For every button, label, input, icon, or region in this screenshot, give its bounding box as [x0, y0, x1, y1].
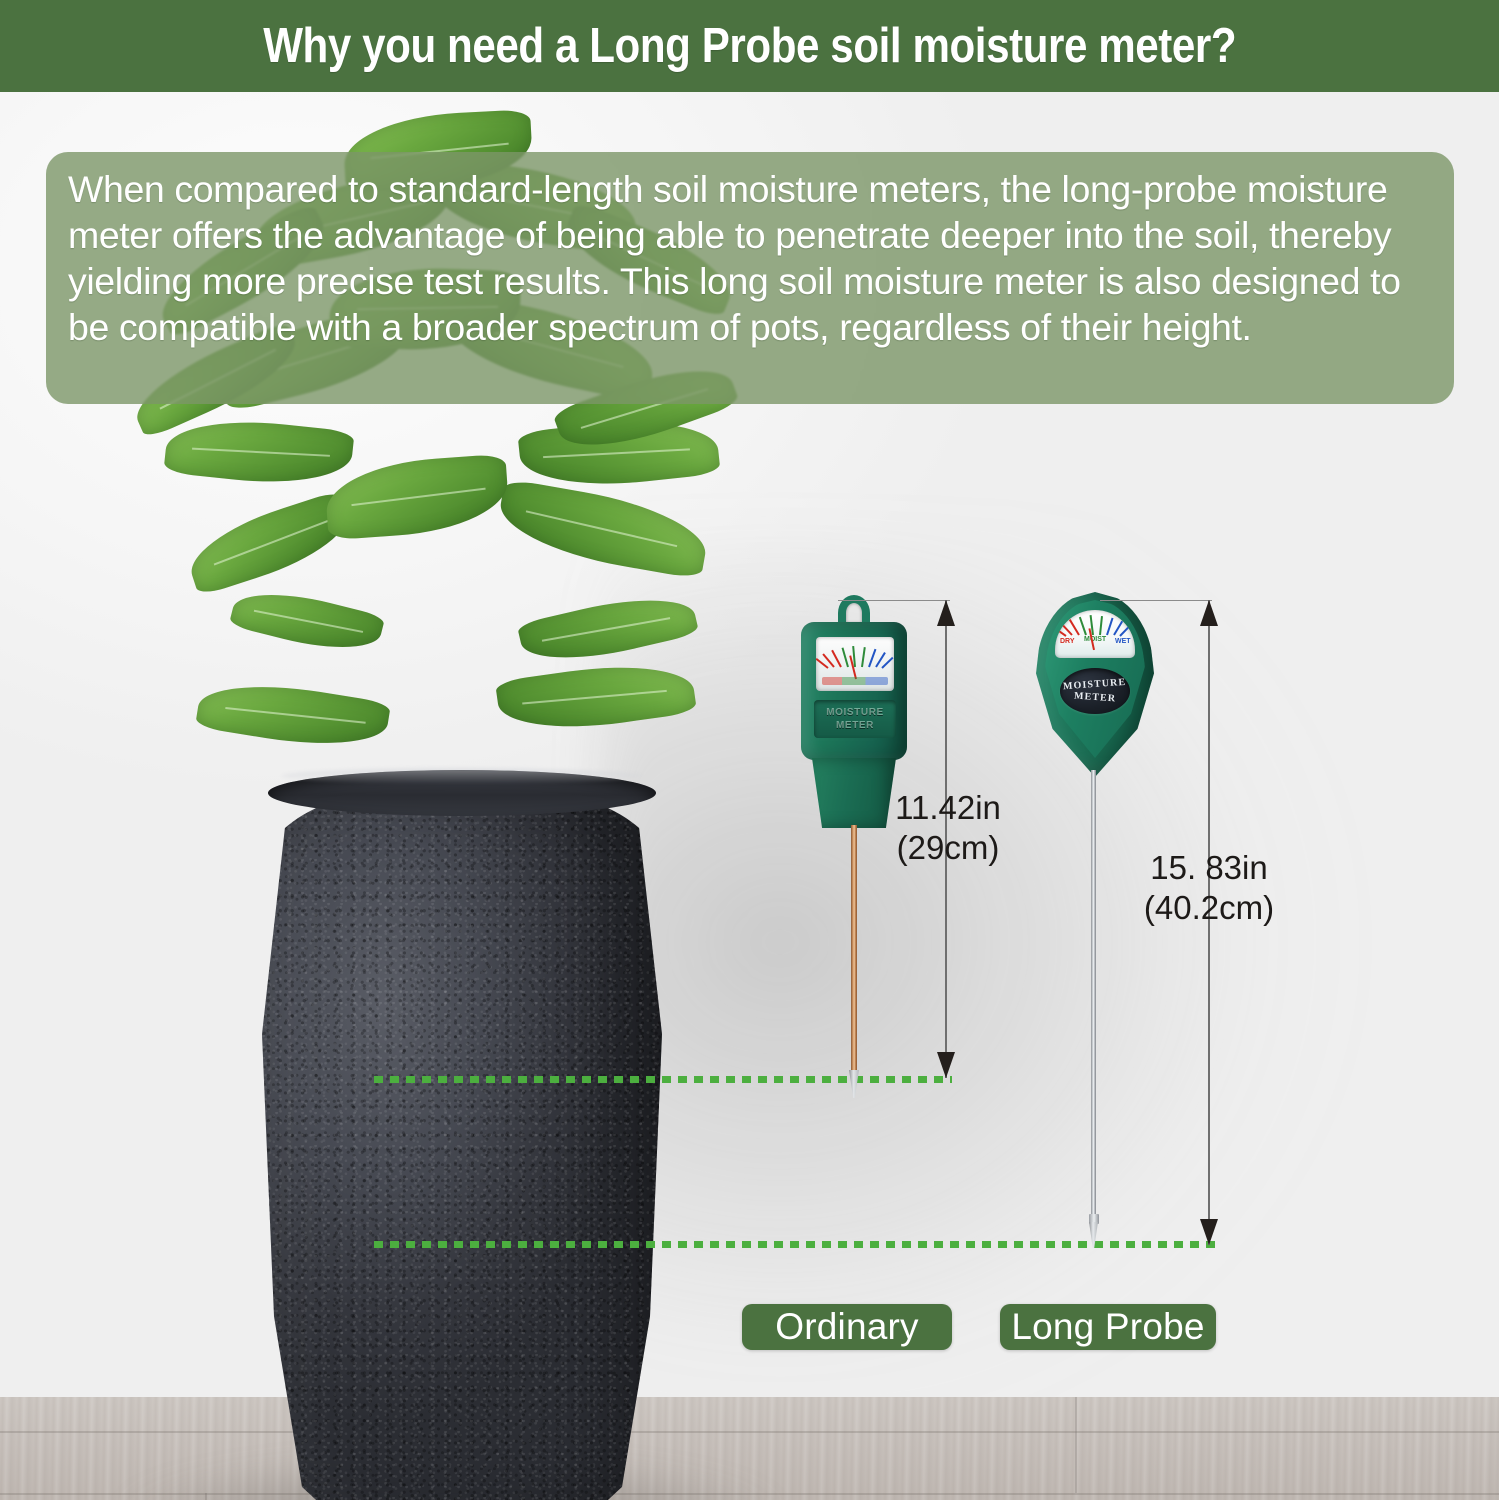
- long-probe-tip: [1089, 1222, 1098, 1248]
- header-banner: Why you need a Long Probe soil moisture …: [0, 0, 1499, 92]
- caption-ordinary: Ordinary: [742, 1304, 952, 1350]
- ordinary-meter-gauge: [816, 637, 894, 691]
- ordinary-meter-probe: [851, 825, 857, 1078]
- gauge-wet-label: WET: [1115, 638, 1131, 645]
- description-paragraph: When compared to standard-length soil mo…: [68, 166, 1434, 350]
- long-probe-rod: [1091, 770, 1096, 1230]
- long-probe-badge-line2: METER: [1074, 690, 1117, 706]
- ordinary-dimension-inches: 11.42in: [878, 788, 1018, 828]
- caption-long-probe-label: Long Probe: [1011, 1306, 1204, 1348]
- long-probe-badge: MOISTURE METER: [1060, 668, 1130, 714]
- arrow-head-down-icon: [1200, 1219, 1218, 1245]
- long-probe-dimension-label: 15. 83in (40.2cm): [1132, 848, 1286, 928]
- long-probe-dimension-inches: 15. 83in: [1132, 848, 1286, 888]
- ordinary-badge-line1: MOISTURE: [826, 706, 884, 719]
- arrow-head-down-icon: [937, 1052, 955, 1078]
- caption-ordinary-label: Ordinary: [775, 1306, 918, 1348]
- description-card: When compared to standard-length soil mo…: [46, 152, 1454, 404]
- infographic-canvas: MOISTURE METER 11.42in (29cm): [0, 0, 1499, 1500]
- long-probe-lead-line: [1100, 600, 1212, 601]
- page-title: Why you need a Long Probe soil moisture …: [263, 18, 1236, 74]
- ordinary-dimension-cm: (29cm): [878, 828, 1018, 868]
- long-probe-dimension-cm: (40.2cm): [1132, 888, 1286, 928]
- ordinary-badge-line2: METER: [836, 719, 874, 732]
- gauge-moist-label: MOIST: [1084, 636, 1106, 643]
- ordinary-meter-probe-tip: [849, 1070, 859, 1098]
- ordinary-dimension-label: 11.42in (29cm): [878, 788, 1018, 868]
- ordinary-meter-body: MOISTURE METER: [801, 622, 907, 760]
- ordinary-meter-label-plate: MOISTURE METER: [814, 700, 896, 738]
- arrow-head-up-icon: [1200, 600, 1218, 626]
- arrow-head-up-icon: [937, 600, 955, 626]
- long-probe-meter-gauge: DRY MOIST WET: [1055, 610, 1135, 658]
- gauge-dry-label: DRY: [1060, 638, 1075, 645]
- caption-long-probe: Long Probe: [1000, 1304, 1216, 1350]
